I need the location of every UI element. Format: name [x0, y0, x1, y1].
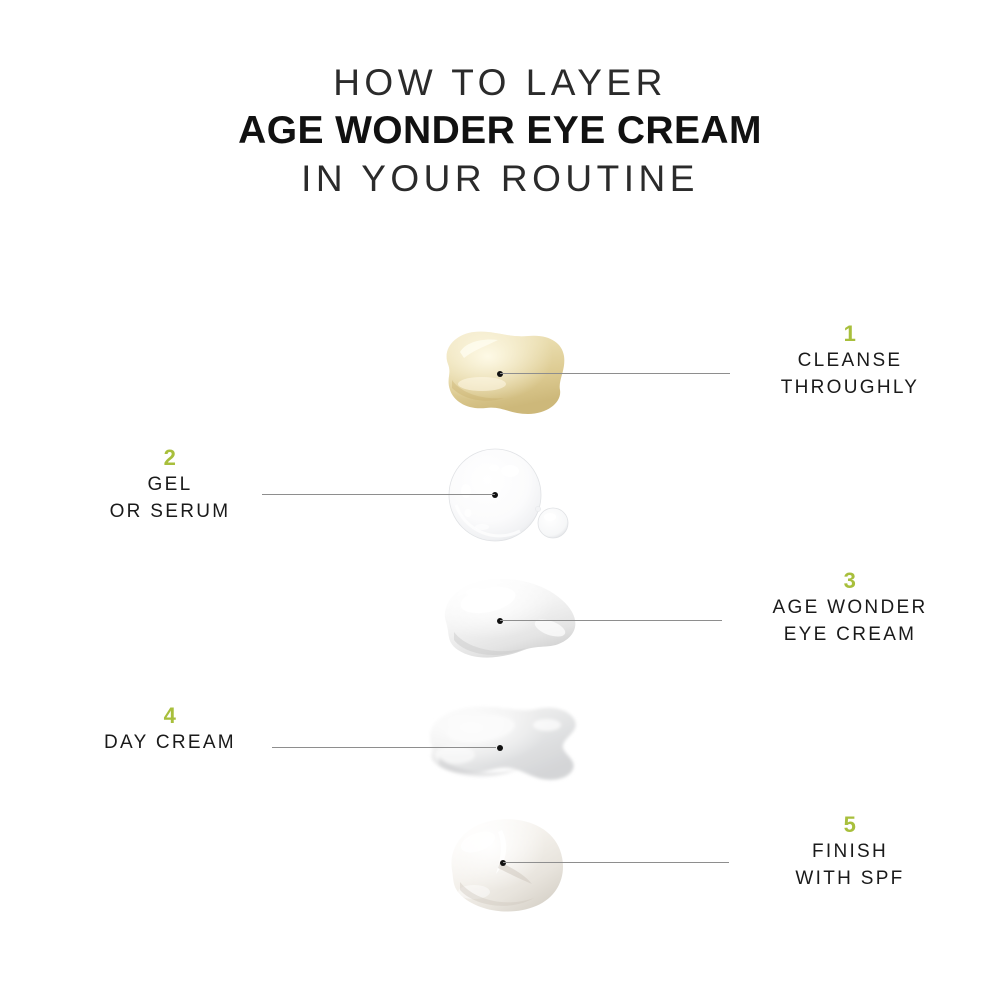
leader-line-3	[500, 620, 722, 621]
marker-dot-1	[497, 371, 503, 377]
spf-swatch	[440, 812, 590, 922]
title-line-1: HOW TO LAYER	[0, 60, 1000, 106]
step-label-2-line-2: OR SERUM	[20, 498, 320, 525]
step-row-4: 4 DAY CREAM	[0, 695, 1000, 815]
step-number-4: 4	[20, 703, 320, 729]
step-caption-4: 4 DAY CREAM	[20, 703, 320, 756]
infographic-page: HOW TO LAYER AGE WONDER EYE CREAM IN YOU…	[0, 0, 1000, 1000]
step-caption-2: 2 GEL OR SERUM	[20, 445, 320, 525]
step-label-5-line-1: FINISH	[700, 838, 1000, 865]
marker-dot-4	[497, 745, 503, 751]
marker-dot-5	[500, 860, 506, 866]
day-cream-swatch	[415, 695, 595, 795]
step-row-2: 2 GEL OR SERUM	[0, 447, 1000, 567]
step-caption-3: 3 AGE WONDER EYE CREAM	[700, 568, 1000, 648]
gel-droplet-swatch	[438, 447, 588, 547]
step-row-5: 5 FINISH WITH SPF	[0, 812, 1000, 932]
step-number-1: 1	[700, 321, 1000, 347]
step-label-2-line-1: GEL	[20, 471, 320, 498]
step-label-5-line-2: WITH SPF	[700, 865, 1000, 892]
title-line-3: IN YOUR ROUTINE	[0, 156, 1000, 202]
step-row-1: 1 CLEANSE THROUGHLY	[0, 322, 1000, 442]
step-number-5: 5	[700, 812, 1000, 838]
leader-line-1	[500, 373, 730, 374]
step-caption-1: 1 CLEANSE THROUGHLY	[700, 321, 1000, 401]
marker-dot-2	[492, 492, 498, 498]
leader-line-5	[503, 862, 729, 863]
step-label-4-line-1: DAY CREAM	[20, 729, 320, 756]
marker-dot-3	[497, 618, 503, 624]
step-number-3: 3	[700, 568, 1000, 594]
step-caption-5: 5 FINISH WITH SPF	[700, 812, 1000, 892]
step-number-2: 2	[20, 445, 320, 471]
step-row-3: 3 AGE WONDER EYE CREAM	[0, 570, 1000, 690]
step-label-3-line-2: EYE CREAM	[700, 621, 1000, 648]
title-line-2: AGE WONDER EYE CREAM	[0, 106, 1000, 156]
step-label-1-line-2: THROUGHLY	[700, 374, 1000, 401]
step-label-1-line-1: CLEANSE	[700, 347, 1000, 374]
step-label-3-line-1: AGE WONDER	[700, 594, 1000, 621]
cleanser-swatch	[436, 322, 586, 422]
page-title: HOW TO LAYER AGE WONDER EYE CREAM IN YOU…	[0, 60, 1000, 202]
